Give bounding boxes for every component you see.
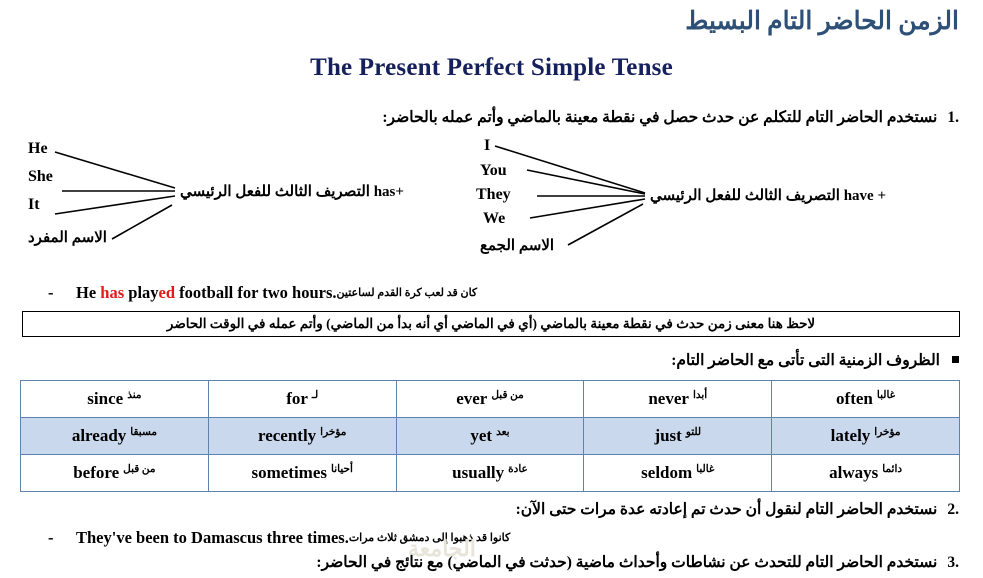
table-cell: oftenغالبا (772, 381, 960, 418)
adverb-ar: مؤخرا (874, 427, 900, 438)
adverb-ar: أحيانا (331, 464, 353, 475)
adverbs-heading-text: الظروف الزمنية التى تأتى مع الحاضر التام… (671, 352, 940, 369)
note-box-text: لاحظ هنا معنى زمن حدث في نقطة معينة بالم… (167, 316, 815, 332)
table-row: sinceمنذ forلـ everمن قبل neverأبدا ofte… (21, 381, 960, 418)
verb-have: have + (844, 188, 886, 205)
adverb-ar: مؤخرا (320, 427, 346, 438)
table-cell: alwaysدائما (772, 455, 960, 492)
adverb-ar: غالبا (696, 464, 714, 475)
adverb-en: always (829, 463, 878, 482)
table-row: beforeمن قبل sometimesأحيانا usuallyعادة… (21, 455, 960, 492)
adverb-ar: لـ (312, 390, 318, 401)
table-cell: everمن قبل (396, 381, 584, 418)
table-cell: forلـ (208, 381, 396, 418)
adverbs-table-body: sinceمنذ forلـ everمن قبل neverأبدا ofte… (21, 381, 960, 492)
adverb-ar: منذ (127, 390, 141, 401)
pronoun-plural-noun-ar: الاسم الجمع (480, 236, 554, 255)
table-cell: usuallyعادة (396, 455, 584, 492)
point-2-text: نستخدم الحاضر التام لنقول أن حدث تم إعاد… (516, 501, 938, 518)
table-cell: sometimesأحيانا (208, 455, 396, 492)
example-2-text: They've been to Damascus three times. (76, 528, 349, 547)
point-2: 2.نستخدم الحاضر التام لنقول أن حدث تم إع… (516, 500, 959, 519)
table-cell: yetبعد (396, 418, 584, 455)
adverb-en: lately (831, 426, 871, 445)
adverb-ar: من قبل (491, 390, 523, 401)
pronoun-you: You (480, 162, 507, 180)
pronoun-i: I (484, 137, 490, 155)
table-cell: sinceمنذ (21, 381, 209, 418)
table-cell: beforeمن قبل (21, 455, 209, 492)
table-cell: justللتو (584, 418, 772, 455)
adverb-en: already (72, 426, 126, 445)
adverb-en: sometimes (251, 463, 327, 482)
adverb-ar: أبدا (693, 390, 707, 401)
table-cell: seldomغالبا (584, 455, 772, 492)
adverb-ar: دائما (882, 464, 902, 475)
example-1-part2: play (124, 283, 158, 302)
adverbs-table: sinceمنذ forلـ everمن قبل neverأبدا ofte… (20, 380, 960, 492)
adverb-en: never (648, 389, 689, 408)
example-1-part1: He (76, 283, 100, 302)
example-1-dash: - (48, 283, 76, 303)
example-1-part3: football for two hours. (175, 283, 337, 302)
adverb-ar: عادة (508, 464, 528, 475)
rule-have-text: التصريف الثالث للفعل الرئيسي (650, 188, 840, 204)
table-cell: alreadyمسبقا (21, 418, 209, 455)
example-2-dash: - (48, 528, 76, 548)
adverb-en: ever (456, 389, 487, 408)
adverb-en: recently (258, 426, 316, 445)
example-1-highlight-has: has (100, 283, 124, 302)
table-row: alreadyمسبقا recentlyمؤخرا yetبعد justلل… (21, 418, 960, 455)
point-3-text: نستخدم الحاضر التام للتحدث عن نشاطات وأح… (316, 554, 937, 571)
adverb-ar: بعد (496, 427, 510, 438)
adverb-en: yet (470, 426, 492, 445)
example-sentence-1: -He has played football for two hours.كا… (48, 283, 483, 303)
bullet-square-icon (952, 356, 959, 363)
table-cell: neverأبدا (584, 381, 772, 418)
adverb-en: before (73, 463, 119, 482)
adverb-ar: مسبقا (130, 427, 157, 438)
worksheet-page: الزمن الحاضر التام البسيط The Present Pe… (0, 0, 983, 578)
adverb-en: often (836, 389, 873, 408)
example-1-gloss: كان قد لعب كرة القدم لساعتين (337, 287, 478, 299)
adverb-en: for (286, 389, 308, 408)
adverb-ar: من قبل (123, 464, 155, 475)
adverb-en: just (654, 426, 681, 445)
pronoun-they: They (476, 186, 511, 204)
adverb-ar: للتو (686, 427, 701, 438)
adverb-en: usually (452, 463, 504, 482)
adverb-en: since (87, 389, 123, 408)
point-3-number: 3. (947, 554, 959, 572)
table-cell: recentlyمؤخرا (208, 418, 396, 455)
table-cell: latelyمؤخرا (772, 418, 960, 455)
example-1-highlight-ed: ed (159, 283, 176, 302)
point-2-number: 2. (947, 501, 959, 519)
rule-have: have + التصريف الثالث للفعل الرئيسي (650, 186, 886, 205)
pronoun-we: We (483, 210, 505, 228)
point-3: 3.نستخدم الحاضر التام للتحدث عن نشاطات و… (316, 553, 959, 572)
adverb-en: seldom (641, 463, 692, 482)
note-box: لاحظ هنا معنى زمن حدث في نقطة معينة بالم… (22, 311, 960, 337)
adverbs-heading: الظروف الزمنية التى تأتى مع الحاضر التام… (671, 351, 959, 370)
adverb-ar: غالبا (877, 390, 895, 401)
